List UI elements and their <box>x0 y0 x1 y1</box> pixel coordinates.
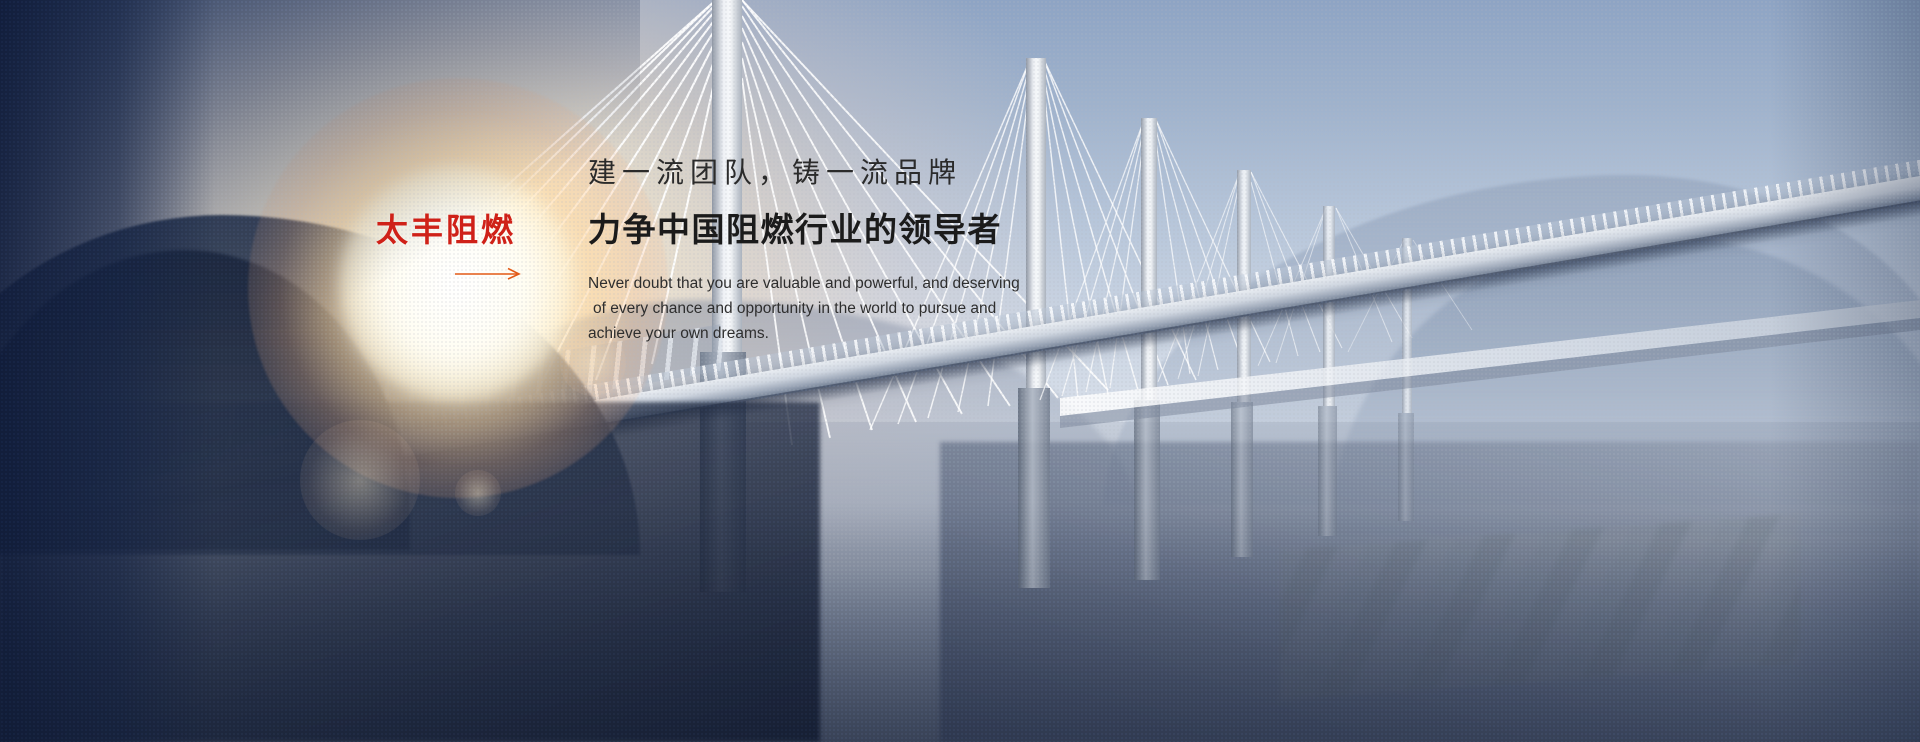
paragraph-line-2: of every chance and opportunity in the w… <box>588 296 1058 321</box>
headline-group: 建一流团队，铸一流品牌 力争中国阻燃行业的领导者 Never doubt tha… <box>588 156 1108 346</box>
banner-content: 太丰阻燃 建一流团队，铸一流品牌 力争中国阻燃行业的领导者 Never doub… <box>0 0 1920 742</box>
brand-logo-text: 太丰阻燃 <box>376 214 536 246</box>
hero-banner: 太丰阻燃 建一流团队，铸一流品牌 力争中国阻燃行业的领导者 Never doub… <box>0 0 1920 742</box>
paragraph-line-1: Never doubt that you are valuable and po… <box>588 271 1058 296</box>
paragraph-line-3: achieve your own dreams. <box>588 321 1058 346</box>
headline-primary: 建一流团队，铸一流品牌 <box>588 156 1108 190</box>
arrow-right-icon <box>455 266 525 280</box>
headline-paragraph: Never doubt that you are valuable and po… <box>588 271 1058 346</box>
headline-secondary: 力争中国阻燃行业的领导者 <box>588 210 1108 250</box>
brand-logo[interactable]: 太丰阻燃 <box>376 214 536 246</box>
